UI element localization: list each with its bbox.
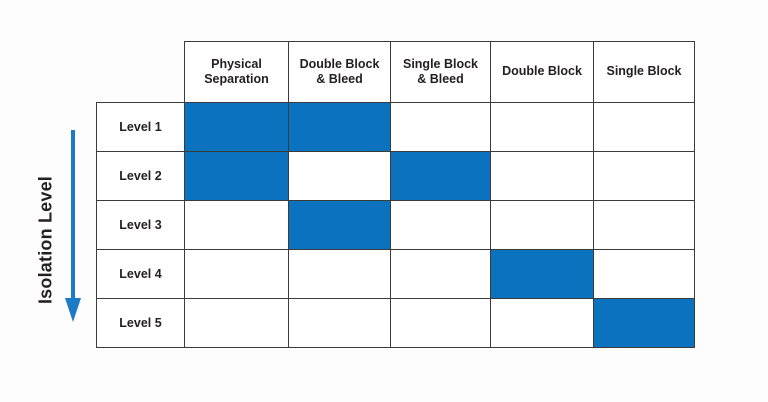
matrix-cell-empty[interactable] <box>594 250 695 299</box>
matrix-cell-empty[interactable] <box>594 103 695 152</box>
matrix-cell-empty[interactable] <box>289 299 391 348</box>
row-header-level: Level 3 <box>97 201 185 250</box>
column-header-double-block-and-bleed: Double Block & Bleed <box>289 42 391 103</box>
matrix-cell-empty[interactable] <box>185 201 289 250</box>
table-row: Level 2 <box>97 152 695 201</box>
isolation-matrix-table: Physical Separation Double Block & Bleed… <box>96 41 695 348</box>
row-header-level: Level 5 <box>97 299 185 348</box>
matrix-cell-empty[interactable] <box>289 152 391 201</box>
column-header-line1: Single Block <box>606 64 681 78</box>
matrix-cell-filled[interactable] <box>491 250 594 299</box>
table-row: Level 5 <box>97 299 695 348</box>
matrix-cell-empty[interactable] <box>594 152 695 201</box>
axis-label-container: Isolation Level <box>30 150 62 330</box>
column-header-physical-separation: Physical Separation <box>185 42 289 103</box>
matrix-cell-empty[interactable] <box>491 152 594 201</box>
matrix-cell-empty[interactable] <box>594 201 695 250</box>
isolation-level-matrix-figure: Isolation Level Physical Separation Doub… <box>0 0 768 402</box>
matrix-cell-filled[interactable] <box>289 201 391 250</box>
matrix-cell-filled[interactable] <box>289 103 391 152</box>
matrix-cell-filled[interactable] <box>594 299 695 348</box>
matrix-cell-empty[interactable] <box>491 103 594 152</box>
column-header-single-block: Single Block <box>594 42 695 103</box>
column-header-single-block-and-bleed: Single Block & Bleed <box>391 42 491 103</box>
row-header-level: Level 2 <box>97 152 185 201</box>
matrix-cell-empty[interactable] <box>391 201 491 250</box>
isolation-level-axis-label: Isolation Level <box>36 176 57 304</box>
matrix-cell-filled[interactable] <box>185 152 289 201</box>
matrix-cell-empty[interactable] <box>289 250 391 299</box>
down-arrow-icon <box>64 128 82 324</box>
matrix-cell-empty[interactable] <box>185 299 289 348</box>
matrix-cell-empty[interactable] <box>185 250 289 299</box>
column-header-line2: & Bleed <box>417 72 464 86</box>
matrix-cell-empty[interactable] <box>491 201 594 250</box>
column-header-line2: & Bleed <box>316 72 363 86</box>
column-header-line1: Physical <box>211 57 262 71</box>
matrix-cell-empty[interactable] <box>491 299 594 348</box>
matrix-body: Level 1Level 2Level 3Level 4Level 5 <box>97 103 695 348</box>
column-header-line2: Separation <box>204 72 269 86</box>
matrix-cell-empty[interactable] <box>391 299 491 348</box>
table-header-row: Physical Separation Double Block & Bleed… <box>97 42 695 103</box>
matrix-cell-empty[interactable] <box>391 250 491 299</box>
matrix-cell-filled[interactable] <box>185 103 289 152</box>
matrix-cell-empty[interactable] <box>391 103 491 152</box>
row-header-level: Level 1 <box>97 103 185 152</box>
column-header-line1: Double Block <box>300 57 380 71</box>
corner-cell <box>97 42 185 103</box>
column-header-double-block: Double Block <box>491 42 594 103</box>
table-row: Level 4 <box>97 250 695 299</box>
table-row: Level 1 <box>97 103 695 152</box>
column-header-line1: Single Block <box>403 57 478 71</box>
table-row: Level 3 <box>97 201 695 250</box>
row-header-level: Level 4 <box>97 250 185 299</box>
column-header-line1: Double Block <box>502 64 582 78</box>
matrix-cell-filled[interactable] <box>391 152 491 201</box>
